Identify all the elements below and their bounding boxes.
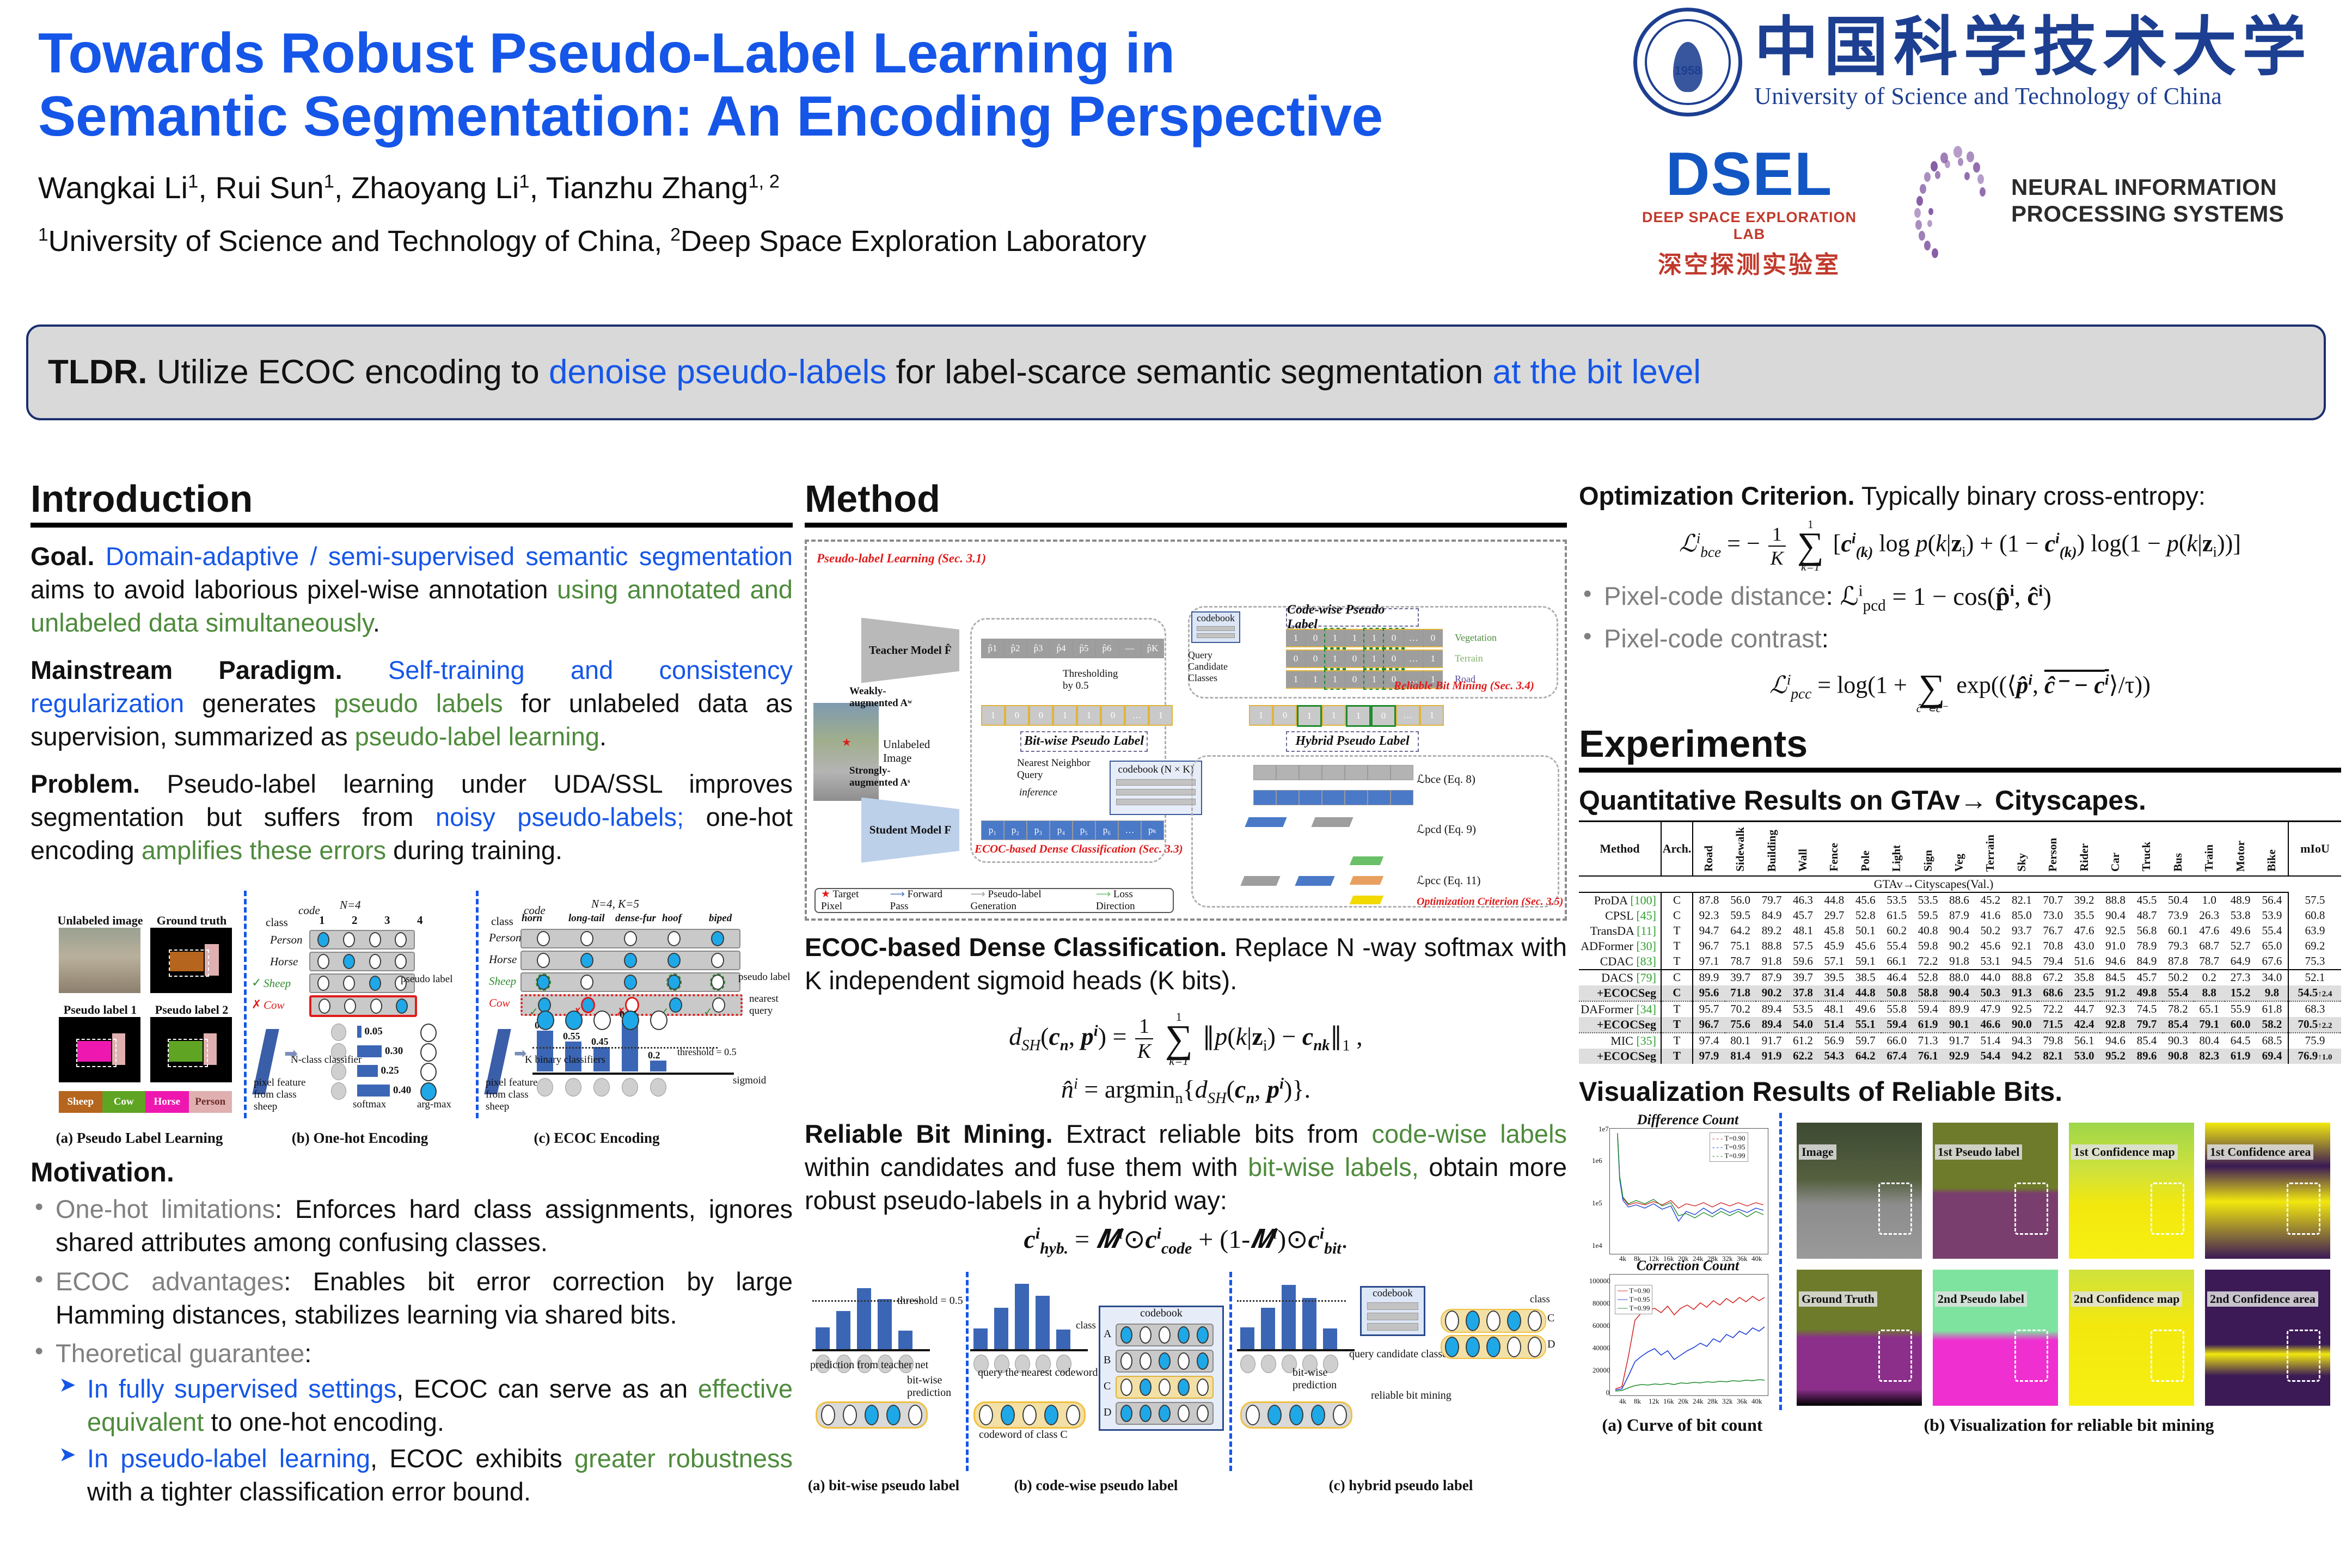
table-cell-value: 37.8 [1787, 985, 1818, 1001]
table-cell-value: 60.2 [1881, 923, 1912, 939]
viz-tile-highlight-box [2014, 1183, 2048, 1235]
paradigm-green-2: pseudo-label learning [355, 722, 599, 751]
target-pixel-star-icon: ★ [842, 736, 852, 749]
tldr-banner: TLDR. Utilize ECOC encoding to denoise p… [26, 324, 2326, 420]
table-cell-value: 55.9 [2225, 1001, 2256, 1017]
codewise-r3-c1: 1 [1286, 670, 1306, 689]
diagram-label-weak-aug: Weakly-augmented Aʷ [849, 685, 920, 709]
fig2-codebook-label-A: A [1104, 1328, 1111, 1340]
fig2-class-label: class [1076, 1320, 1096, 1332]
c-bar-5 [650, 1061, 666, 1071]
fig2-pill-b-bit-1 [979, 1405, 993, 1425]
table-cell-arch: T [1661, 1017, 1693, 1033]
table-cell-value: 65.0 [2256, 939, 2288, 954]
c-code-row-2 [520, 951, 740, 970]
ci-row-cell-7 [1391, 765, 1413, 780]
viz-tile-2-4: 2nd Confidence area [2205, 1270, 2330, 1406]
table-cell-value: 74.5 [2131, 1001, 2162, 1017]
x-tick: 24k [1693, 1397, 1704, 1406]
col-header-rot: Wall [1796, 849, 1810, 872]
c-cell-r3-c3 [624, 975, 637, 990]
hybrid-seq-cell-7: … [1396, 705, 1420, 726]
plot1-legend: - - - T=0.90 - - - T=0.95 - - - T=0.99 [1710, 1132, 1748, 1162]
codewise-r2-c4: 0 [1345, 650, 1364, 668]
table-cell-value: 96.7 [1693, 1017, 1725, 1033]
col-header-rot: Sign [1921, 850, 1935, 872]
table-cell-value: 88.8 [2100, 892, 2131, 908]
viz-tile-1-3: 1st Confidence map [2069, 1123, 2194, 1259]
table-cell-value: 1.0 [2194, 892, 2225, 908]
theory-sub-list: In fully supervised settings, ECOC can s… [56, 1372, 793, 1508]
table-cell-value: 80.1 [1725, 1033, 1756, 1049]
viz-tile-highlight-box [2014, 1330, 2048, 1382]
c-baseline [532, 1073, 734, 1075]
figure-caption-b: (b) One-hot Encoding [248, 1130, 471, 1147]
results-table-header-row: MethodArch.RoadSidewalkBuildingWallFence… [1579, 821, 2341, 876]
codewise-r2-c1: 0 [1286, 650, 1306, 668]
teacher-seq-cell-3: p̂3 [1027, 639, 1050, 658]
fig2-codebook-title: codebook [1100, 1307, 1222, 1320]
goal-label: Goal. [30, 542, 95, 571]
m2-bars-c-threshold-line [1237, 1300, 1346, 1302]
codewise-class-2: Terrain [1455, 653, 1483, 664]
c-node-3 [593, 1078, 610, 1097]
table-cell-value: 53.5 [1881, 892, 1912, 908]
label-pseudo-label-1: Pseudo label 1 [57, 1003, 144, 1017]
fig2-codebook-D-bit-4 [1178, 1405, 1190, 1422]
viz-caption-a: (a) Curve of bit count [1590, 1415, 1775, 1435]
codewise-r1-c4: 1 [1345, 629, 1364, 647]
table-cell-value: 71.5 [2037, 1017, 2068, 1033]
table-cell-value: 89.2 [1756, 923, 1787, 939]
table-cell-value: 48.7 [2131, 908, 2162, 923]
viz-divider [1779, 1113, 1782, 1410]
table-cell-value: 84.5 [2100, 970, 2131, 985]
col-header-rot: Building [1765, 830, 1779, 872]
b-output-node-2 [420, 1043, 437, 1062]
diagram-student-logits: p₁p₂p₃p₄p₅p₆…pₖ [981, 820, 1164, 840]
b-row-label-3: Sheep [264, 977, 291, 990]
hybrid-seq-cell-1: 1 [1249, 705, 1273, 726]
teacher-seq-cell-1: p̂1 [981, 639, 1004, 658]
diagram-loss-pcc: ℒpcc (Eq. 11) [1417, 874, 1481, 887]
col-header-rot: Rider [2078, 843, 2091, 871]
b-output-node-3 [420, 1063, 437, 1081]
fig2-pill-b-bit-5 [1066, 1405, 1080, 1425]
fig2-c-bit-4 [1507, 1310, 1521, 1331]
table-cell-value: 75.1 [1725, 939, 1756, 954]
b-code-row-4 [309, 995, 417, 1017]
table-cell-value: 51.6 [2068, 954, 2099, 970]
student-seq-cell-1: p₁ [981, 820, 1004, 840]
viz-tile-caption: 1st Confidence map [2071, 1144, 2178, 1160]
fig2-codebook-small: codebook [1360, 1286, 1425, 1336]
label-b-pseudo: pseudo label [401, 973, 453, 985]
legend-person: Person [189, 1091, 232, 1113]
fig2-codebook-A-bit-2 [1140, 1326, 1151, 1344]
ci-row-cell-6 [1368, 765, 1391, 780]
fig2-codebook-C-bit-5 [1197, 1379, 1209, 1396]
diagram-vec-c1 [1350, 856, 1383, 865]
c-node-4 [622, 1078, 638, 1097]
m2-bars-c-bar-2 [1261, 1308, 1275, 1349]
col-header-rot: Bus [2171, 853, 2185, 872]
table-cell-value: 78.2 [2163, 1001, 2194, 1017]
fig2-codebook-C-bit-1 [1120, 1379, 1132, 1396]
table-cell-value: 97.1 [1693, 954, 1725, 970]
table-cell-value: 92.5 [2006, 1001, 2037, 1017]
codewise-r2-c7: … [1404, 650, 1423, 668]
y-tick: 1e5 [1592, 1199, 1602, 1208]
ustc-seal-year: 1958 [1637, 64, 1738, 78]
codewise-row-2: 001010…1 [1286, 650, 1443, 668]
y-tick: 80000 [1592, 1299, 1610, 1308]
table-cell-value: 43.0 [2068, 939, 2099, 954]
codewise-r3-c5: 1 [1364, 670, 1384, 689]
table-cell-value: 44.8 [1818, 892, 1849, 908]
tldr-text: TLDR. Utilize ECOC encoding to denoise p… [48, 356, 1701, 389]
fig2-pill-c-bit-2 [1267, 1405, 1282, 1425]
table-cell-value: 90.1 [1944, 1017, 1975, 1033]
table-cell-value: 46.3 [1787, 892, 1818, 908]
fig2-codebook-label-B: B [1104, 1354, 1111, 1367]
table-cell-value: 49.8 [2131, 985, 2162, 1001]
viz-tile-1-4: 1st Confidence area [2205, 1123, 2330, 1259]
table-cell-value: 52.8 [1912, 970, 1943, 985]
table-cell-value: 92.1 [2006, 939, 2037, 954]
table-cell-value: 27.3 [2225, 970, 2256, 985]
c-col-5: biped [709, 912, 732, 924]
table-cell-value: 47.6 [2194, 923, 2225, 939]
table-cell-value: 69.4 [2256, 1049, 2288, 1064]
x-tick: 12k [1649, 1397, 1659, 1406]
label-c-nk: N=4, K=5 [591, 897, 639, 911]
label-c-threshold: threshold = 0.5 [677, 1046, 737, 1058]
table-cell-value: 35.8 [2068, 970, 2099, 985]
goal-blue: Domain-adaptive / semi-supervised semant… [106, 542, 793, 571]
ci-row-cell-1 [1253, 765, 1276, 780]
fig2-codebook-C-bit-3 [1159, 1379, 1171, 1396]
theory-sub-2: In pseudo-label learning, ECOC exhibits … [56, 1442, 793, 1508]
fig2-caption-c: (c) hybrid pseudo label [1235, 1477, 1567, 1494]
c-code-row-3 [520, 972, 740, 992]
table-cell-value: 41.6 [1975, 908, 2006, 923]
table-cell-value: 94.2 [2006, 1049, 2037, 1064]
table-cell-value: 53.5 [1787, 1001, 1818, 1017]
table-cell-value: 80.4 [2194, 1033, 2225, 1049]
fig2-codebook-row-D [1116, 1402, 1214, 1425]
c-node-5 [650, 1078, 666, 1097]
plot-title-correction-count: Correction Count [1612, 1258, 1764, 1274]
table-cell-value: 95.7 [1693, 1001, 1725, 1017]
table-col-fence: Fence [1818, 821, 1849, 876]
col-header-rot: Truck [2140, 842, 2153, 871]
b-row-label-2: Horse [270, 955, 298, 969]
ecoc-label: ECOC-based Dense Classification. [805, 933, 1227, 961]
pi-row-cell-3 [1299, 790, 1322, 805]
table-cell-value: 45.6 [1850, 892, 1881, 908]
viz-tile-highlight-box [1878, 1330, 1912, 1382]
table-cell-arch: T [1661, 954, 1693, 970]
fig2-query-nearest-label: query the nearest codeword [978, 1367, 1098, 1379]
table-cell-value: 90.2 [1944, 939, 1975, 954]
table-cell-value: 50.2 [2163, 970, 2194, 985]
codewise-class-1: Vegetation [1455, 632, 1497, 644]
table-col-sign: Sign [1912, 821, 1943, 876]
table-cell-value: 82.3 [2194, 1049, 2225, 1064]
table-cell-value: 92.3 [1693, 908, 1725, 923]
table-cell-value: 39.7 [1787, 970, 1818, 985]
table-cell-method: CDAC [83] [1579, 954, 1661, 970]
tldr-highlight-2: at the bit level [1493, 353, 1701, 391]
equation-bce: ℒibce = − 1K 1∑k=1 [ci(k) log p(k|zi) + … [1579, 519, 2341, 573]
table-row: DACS [79]C89.939.787.939.739.538.546.452… [1579, 970, 2341, 985]
table-col-truck: Truck [2131, 821, 2162, 876]
col-header-rot: Terrain [1983, 835, 1997, 872]
table-cell-value: 9.8 [2256, 985, 2288, 1001]
table-cell-value: 70.7 [2037, 892, 2068, 908]
fig2-pill-a-bit-4 [886, 1405, 901, 1425]
forward-arrow-icon: ⟶ [890, 889, 905, 900]
table-cell-value: 90.2 [1756, 985, 1787, 1001]
plot1-legend-item-1: - - - T=0.90 [1712, 1134, 1745, 1143]
figure-method-pipeline: Pseudo-label Learning (Sec. 3.1) ★ Unlab… [805, 540, 1567, 921]
col-header-rot: Train [2202, 844, 2216, 872]
rbm-label: Reliable Bit Mining. [805, 1119, 1053, 1148]
table-col-building: Building [1756, 821, 1787, 876]
diagram-vec-cn [1350, 896, 1383, 904]
figure-divider-2 [476, 891, 479, 1118]
table-cell-value: 39.7 [1725, 970, 1756, 985]
table-cell-value: 61.9 [2225, 1049, 2256, 1064]
x-tick: 4k [1619, 1397, 1626, 1406]
diagram-vec-c-hat [1311, 817, 1353, 827]
viz-tile-1-2: 1st Pseudo label [1933, 1123, 2058, 1259]
table-cell-arch: C [1661, 892, 1693, 908]
c-cell-r1-c2 [580, 931, 593, 946]
bitwise-seq-cell-2: 0 [1005, 705, 1029, 726]
fig2-c-bit-1 [1445, 1310, 1459, 1331]
table-cell-value: 67.2 [2037, 970, 2068, 985]
c-cell-r3-c5 [711, 975, 724, 990]
table-cell-value: 57.1 [1818, 954, 1849, 970]
viz-tile-2-1: Ground Truth [1797, 1270, 1922, 1406]
y-tick: 0 [1606, 1388, 1610, 1397]
table-cell-method: DACS [79] [1579, 970, 1661, 985]
c-cell-r3-c4 [667, 975, 681, 990]
table-cell-value: 53.9 [2256, 908, 2288, 923]
table-cell-value: 61.9 [1912, 1017, 1943, 1033]
table-cell-value: 57.5 [1787, 939, 1818, 954]
table-row: CPSL [45]C92.359.584.945.729.752.861.559… [1579, 908, 2341, 923]
c-cell-r3-c2 [580, 975, 593, 990]
teacher-seq-cell-4: p̂4 [1050, 639, 1073, 658]
hybrid-seq-cell-5: 1 [1346, 705, 1371, 727]
table-row: ProDA [100]C87.856.079.746.344.845.653.5… [1579, 892, 2341, 908]
table-cell-arch: C [1661, 985, 1693, 1001]
viz-tile-caption: 2nd Confidence map [2071, 1291, 2182, 1307]
table-cell-value: 90.3 [2163, 1033, 2194, 1049]
table-cell-value: 97.4 [1693, 1033, 1725, 1049]
b-cell-r3-c1 [317, 976, 329, 991]
dsel-logo: DSEL DEEP SPACE EXPLORATION LAB 深空探测实验室 [1632, 144, 1866, 280]
table-col-arch-: Arch. [1661, 821, 1693, 876]
table-row: MIC [35]T97.480.191.761.256.959.766.071.… [1579, 1033, 2341, 1049]
fig2-reliable-bit-mining-label: reliable bit mining [1371, 1389, 1451, 1402]
fig2-codebook-B-bit-1 [1120, 1352, 1132, 1370]
codewise-r1-c1: 1 [1286, 629, 1306, 647]
table-cell-value: 53.8 [2225, 908, 2256, 923]
pi-row-cell-4 [1322, 790, 1345, 805]
motivation-heading: Motivation. [30, 1156, 793, 1188]
ci-row-cell-2 [1276, 765, 1299, 780]
m2-bars-c-baseline [1237, 1349, 1355, 1351]
table-cell-value: 78.7 [1725, 954, 1756, 970]
fig2-caption-b: (b) code-wise pseudo label [968, 1477, 1224, 1494]
b-cell-r4-c2 [344, 999, 356, 1014]
table-cell-value: 91.7 [1756, 1033, 1787, 1049]
table-cell-value: 39.2 [2068, 892, 2099, 908]
plot2-legend-item-3: ── T=0.99 [1618, 1304, 1650, 1313]
pi-row-cell-1 [1253, 790, 1276, 805]
fig2-pill-c-bit-5 [1333, 1405, 1347, 1425]
plot1-exponent-label: 1e7 [1598, 1125, 1609, 1134]
legend-target-pixel: ★ Target Pixel [821, 888, 881, 912]
table-cell-method: CPSL [45] [1579, 908, 1661, 923]
b-cell-r2-c3 [369, 954, 381, 969]
x-tick: 40k [1751, 1397, 1762, 1406]
fig2-codebook-B-bit-3 [1159, 1352, 1171, 1370]
table-cell-value: 89.6 [2131, 1049, 2162, 1064]
theory-sub-2-mid: , ECOC exhibits [370, 1444, 574, 1473]
diagram-student-model: Student Model F [861, 798, 959, 863]
table-cell-miou: 69.2 [2288, 939, 2341, 954]
y-tick: 1e4 [1592, 1241, 1602, 1250]
table-cell-value: 62.2 [1787, 1049, 1818, 1064]
b-bar-1 [357, 1026, 362, 1038]
teacher-seq-cell-8: p̂K [1141, 639, 1164, 658]
col-header-rot: Veg [1952, 854, 1966, 872]
table-col-rider: Rider [2068, 821, 2099, 876]
dsel-chinese-name: 深空探测实验室 [1632, 245, 1866, 280]
codewise-r1-c2: 0 [1306, 629, 1325, 647]
page-title: Towards Robust Pseudo-Label Learning in … [38, 22, 1644, 149]
table-cell-value: 45.9 [1818, 939, 1849, 954]
theory-sub-1-blue: In fully supervised settings [87, 1374, 396, 1403]
table-cell-miou: 68.3 [2288, 1001, 2341, 1017]
table-cell-value: 79.8 [2037, 1033, 2068, 1049]
c-code-row-1 [520, 929, 740, 948]
fig2-d-bit-4 [1507, 1337, 1521, 1357]
col-header-rot: Road [1702, 846, 1716, 872]
diagram-loss-bce: ℒbce (Eq. 8) [1417, 773, 1475, 786]
b-col-1: 1 [319, 914, 325, 927]
paradigm-green-1: pseudo labels [334, 689, 503, 718]
b-cell-r4-c4 [396, 999, 408, 1014]
table-cell-value: 89.4 [1756, 1001, 1787, 1017]
plot-title-difference-count: Difference Count [1612, 1112, 1764, 1128]
legend-sheep: Sheep [59, 1091, 102, 1113]
table-cell-value: 47.6 [2068, 923, 2099, 939]
fig2-d-bit-1 [1445, 1337, 1459, 1357]
goal-mid: aims to avoid laborious pixel-wise annot… [30, 575, 557, 604]
optimization-text: Typically binary cross-entropy: [1855, 481, 2206, 510]
table-cell-value: 49.6 [2225, 923, 2256, 939]
table-cell-value: 72.2 [2037, 1001, 2068, 1017]
table-cell-value: 51.4 [1818, 1017, 1849, 1033]
b-cell-r4-c3 [370, 999, 382, 1014]
table-cell-value: 58.8 [1912, 985, 1943, 1001]
table-cell-value: 70.8 [2037, 939, 2068, 954]
diagram-vec-p-hat [1245, 817, 1287, 827]
viz-tile-highlight-box [2151, 1183, 2184, 1235]
paragraph-optimization: Optimization Criterion. Typically binary… [1579, 479, 2341, 512]
motivation-bullet-3-rest: : [304, 1339, 311, 1368]
motivation-bullet-2-grey: ECOC advantages [56, 1267, 284, 1296]
c-node-2 [565, 1078, 581, 1097]
col-header-rot: Car [2109, 853, 2122, 872]
table-col-bike: Bike [2256, 821, 2288, 876]
b-bar-3 [357, 1065, 378, 1077]
table-cell-arch: T [1661, 939, 1693, 954]
table-cell-method: TransDA [11] [1579, 923, 1661, 939]
fig2-codebook-D-bit-2 [1140, 1405, 1151, 1422]
col-header-rot: Sky [2015, 853, 2029, 872]
label-pseudo-label-2: Pseudo label 2 [148, 1003, 235, 1017]
table-cell-value: 15.2 [2225, 985, 2256, 1001]
fig2-pill-b-bit-2 [1001, 1405, 1015, 1425]
paradigm-mid: generates [184, 689, 334, 718]
diagram-ci-row [1253, 765, 1413, 780]
table-cell-value: 50.1 [1850, 923, 1881, 939]
table-cell-arch: C [1661, 970, 1693, 985]
diagram-vec-p-pos [1295, 876, 1334, 886]
fig2-codebook-panel: codebook ABCD [1099, 1306, 1224, 1431]
optimization-bullets: Pixel-code distance: ℒipcd = 1 − cos(p̂i… [1579, 579, 2341, 655]
table-cell-value: 73.9 [2163, 908, 2194, 923]
table-cell-value: 87.9 [1944, 908, 1975, 923]
diagram-teacher-logits: p̂1p̂2p̂3p̂4p̂5p̂6—p̂K [981, 639, 1164, 658]
fig2-d-bit-3 [1486, 1337, 1500, 1357]
label-c-sigmoid: sigmoid [733, 1075, 766, 1087]
b-output-node-1 [420, 1024, 437, 1042]
problem-blue: noisy pseudo-labels; [436, 803, 684, 831]
c-col-3: dense-fur [615, 912, 656, 924]
dsel-english-name: DEEP SPACE EXPLORATION LAB [1632, 209, 1866, 243]
diagram-vec-c-neg [1240, 876, 1280, 886]
table-cell-value: 79.4 [2037, 954, 2068, 970]
diagram-vec-c2 [1350, 876, 1383, 885]
viz-tile-1-1: Image [1797, 1123, 1922, 1259]
b-bar-value-3: 0.25 [381, 1065, 399, 1077]
diagram-label-sec35: Optimization Criterion (Sec. 3.5) [1417, 896, 1563, 908]
table-cell-miou: 57.5 [2288, 892, 2341, 908]
col-header-rot: Light [1890, 845, 1903, 872]
paragraph-reliable-bit-mining: Reliable Bit Mining. Extract reliable bi… [805, 1117, 1567, 1217]
diagram-label-sec31: Pseudo-label Learning (Sec. 3.1) [817, 552, 986, 566]
m2-bars-b-bar-3 [1015, 1284, 1029, 1349]
diagram-chip-hybrid: Hybrid Pseudo Label [1286, 731, 1419, 752]
table-row: CDAC [83]T97.178.791.859.657.159.166.172… [1579, 954, 2341, 970]
table-cell-miou: 60.8 [2288, 908, 2341, 923]
m2-bars-c-node-2 [1261, 1355, 1276, 1373]
table-cell-value: 59.8 [1912, 939, 1943, 954]
table-col-bus: Bus [2163, 821, 2194, 876]
viz-tile-caption: 1st Confidence area [2207, 1144, 2313, 1160]
m2-bars-b-baseline [970, 1349, 1088, 1351]
fig2-pill-c-bit-1 [1246, 1405, 1260, 1425]
legend-class-colors: Sheep Cow Horse Person [59, 1091, 232, 1113]
